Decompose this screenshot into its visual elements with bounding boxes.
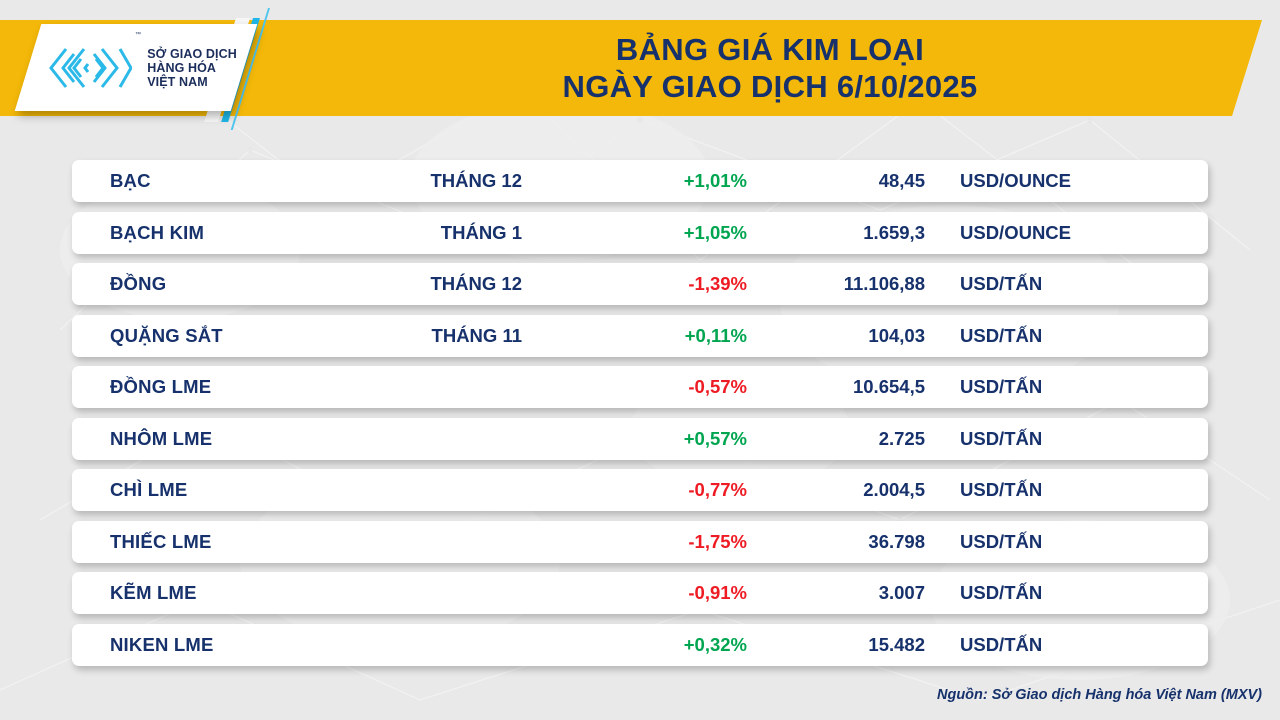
- logo-line-1: SỞ GIAO DỊCH: [147, 47, 237, 61]
- commodity-name: THIẾC LME: [110, 531, 212, 553]
- price-unit: USD/TẤN: [960, 479, 1042, 501]
- page-title: BẢNG GIÁ KIM LOẠI NGÀY GIAO DỊCH 6/10/20…: [330, 24, 1210, 114]
- logo-line-3: VIỆT NAM: [147, 75, 237, 89]
- change-percent: -1,39%: [592, 273, 747, 295]
- price-value: 104,03: [762, 325, 925, 347]
- price-unit: USD/TẤN: [960, 325, 1042, 347]
- table-row[interactable]: NIKEN LME+0,32%15.482USD/TẤN: [72, 624, 1208, 666]
- price-value: 48,45: [762, 170, 925, 192]
- logo-card: ™ SỞ GIAO DỊCH HÀNG HÓA VIỆT NAM: [15, 24, 258, 111]
- table-row[interactable]: BẠCTHÁNG 12+1,01%48,45USD/OUNCE: [72, 160, 1208, 202]
- table-row[interactable]: ĐỒNG LME-0,57%10.654,5USD/TẤN: [72, 366, 1208, 408]
- change-percent: +0,57%: [592, 428, 747, 450]
- table-row[interactable]: QUẶNG SẮTTHÁNG 11+0,11%104,03USD/TẤN: [72, 315, 1208, 357]
- table-row[interactable]: CHÌ LME-0,77%2.004,5USD/TẤN: [72, 469, 1208, 511]
- page-header: ™ SỞ GIAO DỊCH HÀNG HÓA VIỆT NAM BẢNG GI…: [0, 0, 1280, 140]
- change-percent: -0,77%: [592, 479, 747, 501]
- price-value: 2.004,5: [762, 479, 925, 501]
- commodity-name: ĐỒNG LME: [110, 376, 211, 398]
- logo-line-2: HÀNG HÓA: [147, 61, 237, 75]
- contract-month: THÁNG 1: [332, 222, 522, 244]
- price-value: 36.798: [762, 531, 925, 553]
- change-percent: -0,57%: [592, 376, 747, 398]
- commodity-name: KẼM LME: [110, 582, 197, 604]
- table-row[interactable]: KẼM LME-0,91%3.007USD/TẤN: [72, 572, 1208, 614]
- price-unit: USD/TẤN: [960, 376, 1042, 398]
- price-value: 1.659,3: [762, 222, 925, 244]
- change-percent: -1,75%: [592, 531, 747, 553]
- change-percent: +1,05%: [592, 222, 747, 244]
- logo-wordmark: SỞ GIAO DỊCH HÀNG HÓA VIỆT NAM: [147, 47, 237, 89]
- commodity-name: NIKEN LME: [110, 634, 214, 656]
- commodity-name: NHÔM LME: [110, 428, 212, 450]
- contract-month: THÁNG 12: [332, 170, 522, 192]
- contract-month: THÁNG 12: [332, 273, 522, 295]
- commodity-name: BẠCH KIM: [110, 222, 204, 244]
- title-line-2: NGÀY GIAO DỊCH 6/10/2025: [563, 69, 978, 106]
- price-value: 3.007: [762, 582, 925, 604]
- price-unit: USD/TẤN: [960, 634, 1042, 656]
- change-percent: +1,01%: [592, 170, 747, 192]
- price-table: BẠCTHÁNG 12+1,01%48,45USD/OUNCEBẠCH KIMT…: [72, 160, 1208, 675]
- commodity-name: ĐỒNG: [110, 273, 166, 295]
- change-percent: +0,32%: [592, 634, 747, 656]
- source-note: Nguồn: Sở Giao dịch Hàng hóa Việt Nam (M…: [937, 687, 1262, 703]
- table-row[interactable]: BẠCH KIMTHÁNG 1+1,05%1.659,3USD/OUNCE: [72, 212, 1208, 254]
- commodity-name: QUẶNG SẮT: [110, 325, 223, 347]
- change-percent: +0,11%: [592, 325, 747, 347]
- commodity-name: CHÌ LME: [110, 479, 187, 501]
- price-unit: USD/OUNCE: [960, 170, 1071, 192]
- mxv-maze-logo-icon: [46, 44, 132, 92]
- price-unit: USD/OUNCE: [960, 222, 1071, 244]
- contract-month: THÁNG 11: [332, 325, 522, 347]
- title-line-1: BẢNG GIÁ KIM LOẠI: [616, 32, 924, 69]
- trademark-symbol: ™: [135, 32, 141, 38]
- price-value: 2.725: [762, 428, 925, 450]
- metal-price-board: ™ SỞ GIAO DỊCH HÀNG HÓA VIỆT NAM BẢNG GI…: [0, 0, 1280, 720]
- table-row[interactable]: THIẾC LME-1,75%36.798USD/TẤN: [72, 521, 1208, 563]
- table-row[interactable]: ĐỒNGTHÁNG 12-1,39%11.106,88USD/TẤN: [72, 263, 1208, 305]
- price-value: 15.482: [762, 634, 925, 656]
- price-unit: USD/TẤN: [960, 582, 1042, 604]
- table-row[interactable]: NHÔM LME+0,57%2.725USD/TẤN: [72, 418, 1208, 460]
- price-unit: USD/TẤN: [960, 531, 1042, 553]
- price-unit: USD/TẤN: [960, 273, 1042, 295]
- price-unit: USD/TẤN: [960, 428, 1042, 450]
- price-value: 11.106,88: [762, 273, 925, 295]
- price-value: 10.654,5: [762, 376, 925, 398]
- change-percent: -0,91%: [592, 582, 747, 604]
- commodity-name: BẠC: [110, 170, 151, 192]
